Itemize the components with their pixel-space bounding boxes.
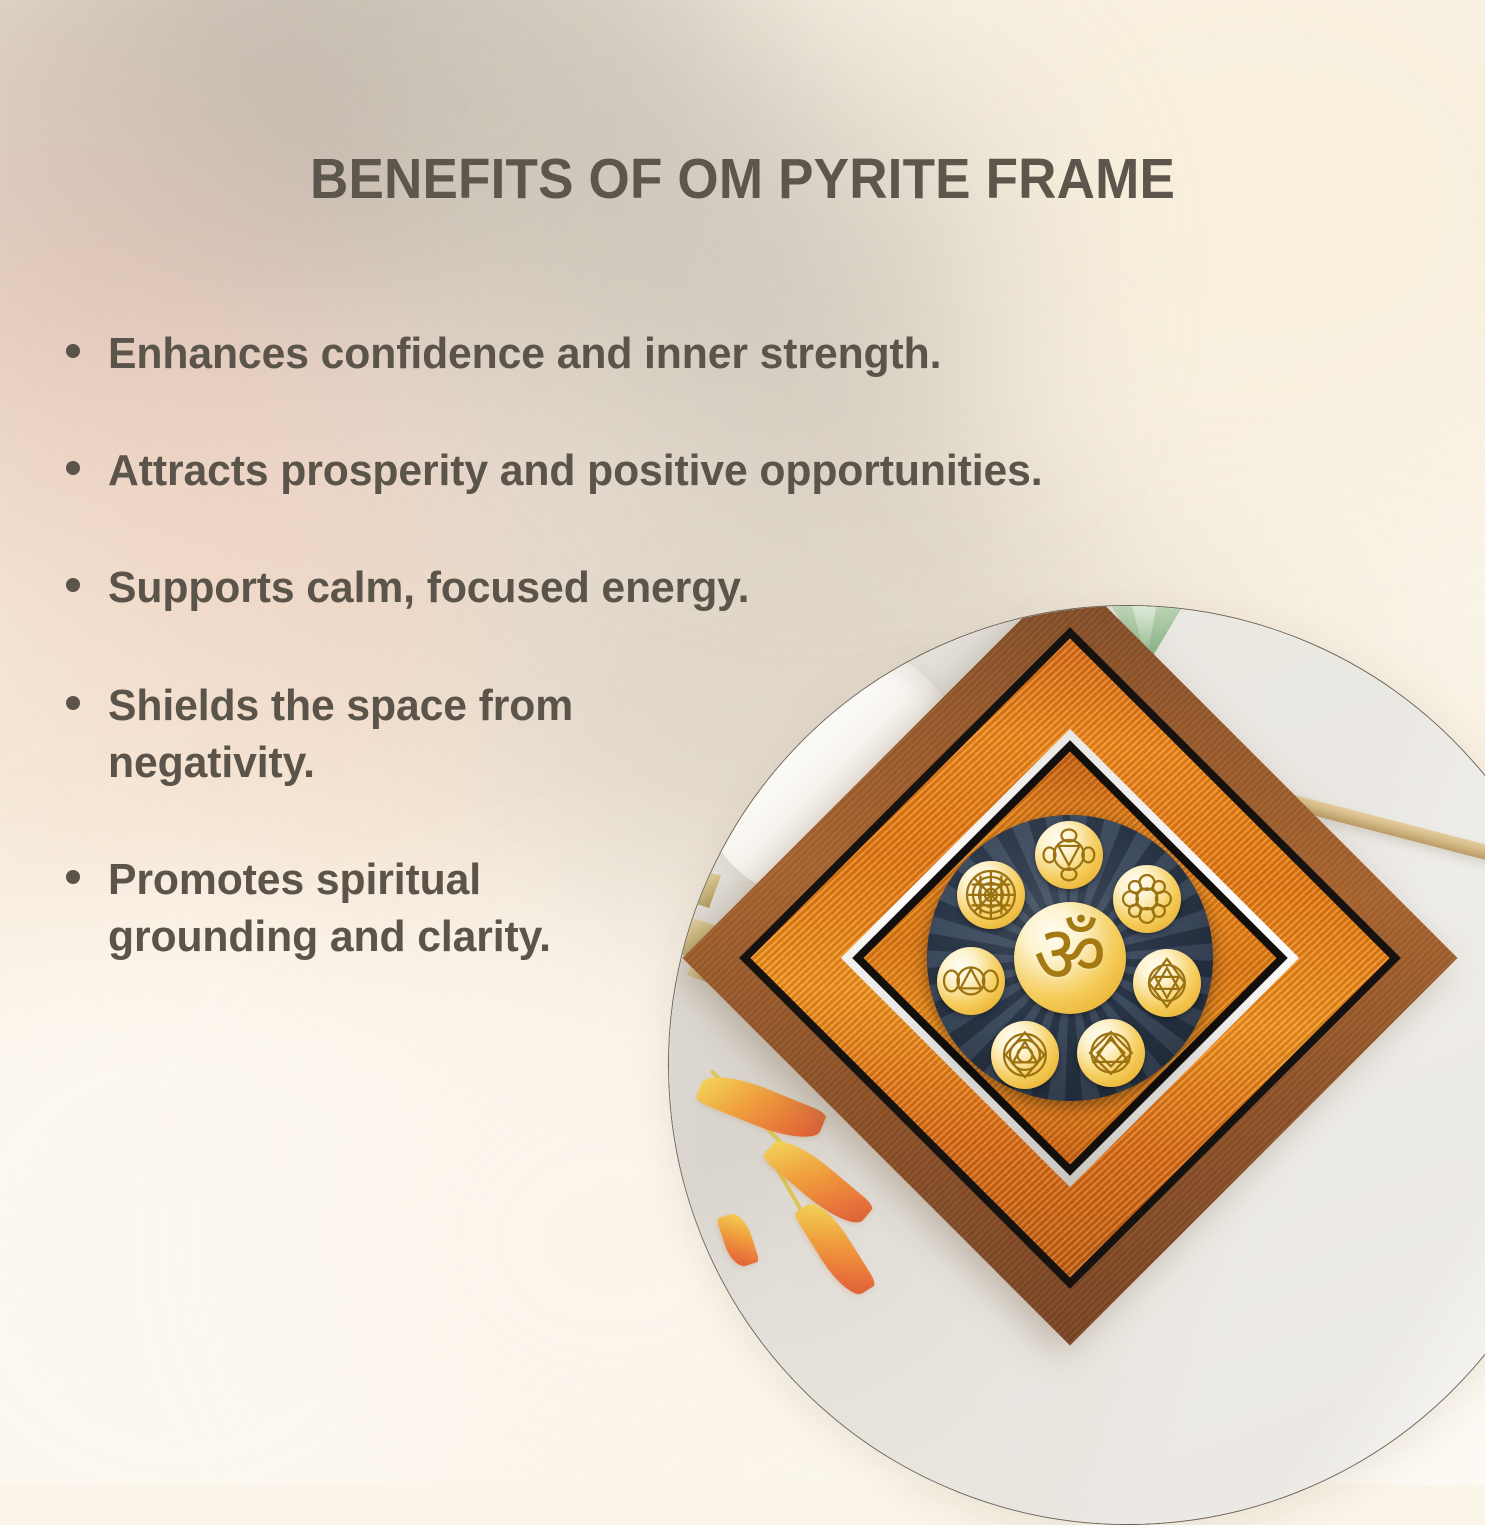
bullet-dot-icon xyxy=(66,870,80,884)
bullet-dot-icon xyxy=(66,696,80,710)
leaf xyxy=(716,1210,759,1270)
page-title: BENEFITS OF OM PYRITE FRAME xyxy=(52,146,1433,212)
chakra-disc-manipura-solar-plexus-icon xyxy=(991,1021,1059,1089)
list-item: Shields the space from negativity. xyxy=(66,677,1156,791)
benefit-text: Attracts prosperity and positive opportu… xyxy=(108,442,1043,499)
list-item: Supports calm, focused energy. xyxy=(66,559,1156,616)
bullet-dot-icon xyxy=(66,578,80,592)
bullet-dot-icon xyxy=(66,344,80,358)
list-item: Attracts prosperity and positive opportu… xyxy=(66,442,1156,499)
benefit-text: Supports calm, focused energy. xyxy=(108,559,749,616)
benefit-text: Shields the space from negativity. xyxy=(108,677,573,791)
list-item: Enhances confidence and inner strength. xyxy=(66,325,1156,382)
bullet-dot-icon xyxy=(66,461,80,475)
chakra-disc-vishuddha-throat-icon xyxy=(1077,1019,1145,1087)
benefits-list: Enhances confidence and inner strength. … xyxy=(66,325,1156,1025)
benefit-text: Enhances confidence and inner strength. xyxy=(108,325,941,382)
list-item: Promotes spiritual grounding and clarity… xyxy=(66,851,1156,965)
benefit-text: Promotes spiritual grounding and clarity… xyxy=(108,851,551,965)
